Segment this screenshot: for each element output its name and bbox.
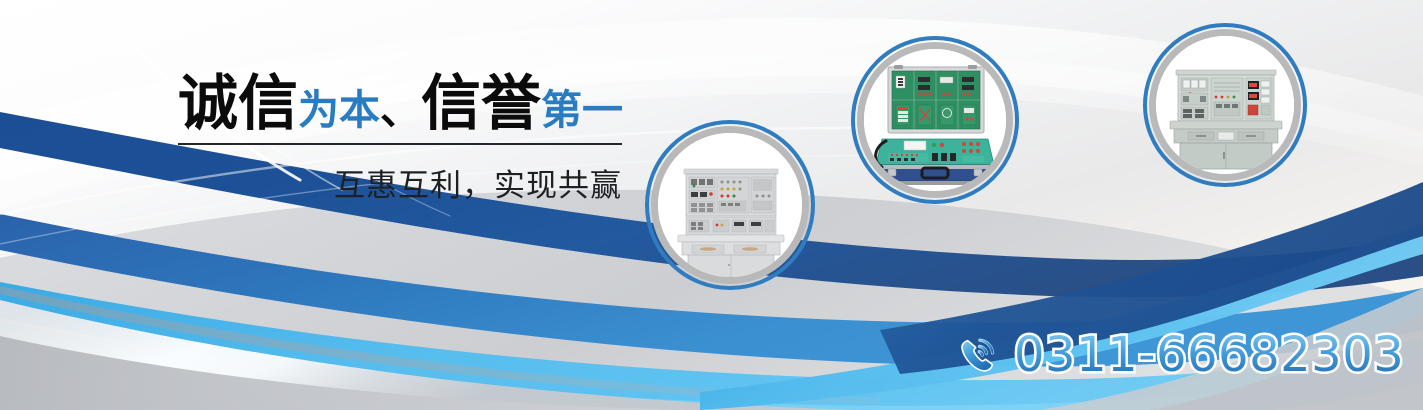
headline-punctuation: 、 — [380, 87, 421, 133]
headline-part-2: 为本 — [298, 87, 380, 133]
contact-block[interactable]: 0311-66682303 0311-66682303 — [955, 327, 1404, 383]
headline-divider — [178, 143, 622, 145]
promo-banner: 诚信为本、信誉第一 互惠互利，实现共赢 — [0, 0, 1423, 410]
phone-number-wrapper: 0311-66682303 0311-66682303 — [1014, 327, 1404, 383]
headline-part-1: 诚信 — [178, 70, 298, 137]
subtitle: 互惠互利，实现共赢 — [178, 160, 622, 205]
page-title: 诚信为本、信誉第一 — [178, 74, 620, 134]
product-image-green-lab-workbench[interactable] — [1156, 36, 1294, 174]
headline-part-4: 信誉 — [421, 70, 541, 137]
product-image-electrical-lab-workbench[interactable] — [658, 133, 802, 277]
training-case-illustration — [864, 49, 1006, 191]
workbench-illustration — [658, 133, 802, 277]
green-workbench-illustration — [1156, 36, 1294, 174]
headline-block: 诚信为本、信誉第一 互惠互利，实现共赢 — [178, 74, 620, 205]
product-image-portable-electronics-training-case[interactable] — [864, 49, 1006, 191]
phone-number[interactable]: 0311-66682303 — [1014, 327, 1404, 383]
phone-call-icon — [955, 332, 1001, 378]
headline-part-5: 第一 — [541, 87, 623, 133]
